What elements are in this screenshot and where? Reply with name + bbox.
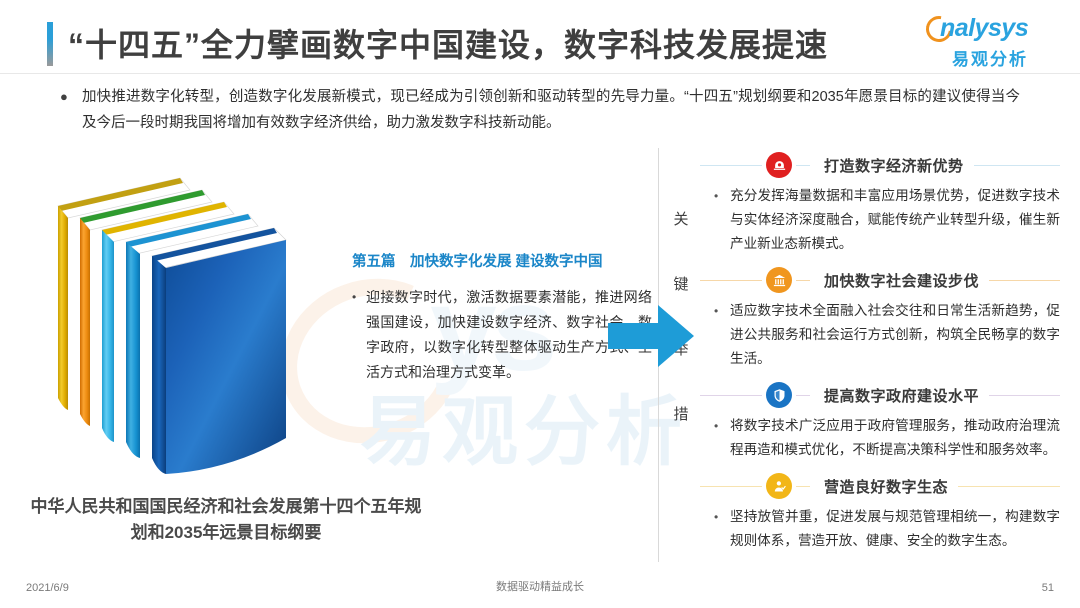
lead-bullet-icon: ●: [60, 84, 82, 136]
divider-mid: [796, 280, 810, 281]
bank-icon: [766, 267, 792, 293]
section-digital-government: 提高数字政府建设水平 • 将数字技术广泛应用于政府管理服务，推动政府治理流程再造…: [700, 380, 1060, 468]
divider-left: [700, 165, 762, 166]
section-bullet-icon: •: [714, 184, 730, 256]
section-body: • 将数字技术广泛应用于政府管理服务，推动政府治理流程再造和模式优化，不断提高决…: [700, 410, 1060, 468]
logo-chinese-name: 易观分析: [952, 45, 1028, 70]
divider-mid: [796, 395, 810, 396]
right-arrow-icon: [608, 305, 694, 367]
footer-tagline: 数据驱动精益成长: [0, 578, 1080, 594]
section-digital-society: 加快数字社会建设步伐 • 适应数字技术全面融入社会交往和日常生活新趋势，促进公共…: [700, 265, 1060, 377]
center-column: 第五篇 加快数字化发展 建设数字中国 • 迎接数字时代，激活数据要素潜能，推进网…: [352, 250, 652, 385]
section-bullet-icon: •: [714, 414, 730, 462]
divider-mid: [796, 165, 810, 166]
section-title: 提高数字政府建设水平: [810, 385, 989, 406]
divider-left: [700, 280, 762, 281]
section-title: 营造良好数字生态: [810, 476, 958, 497]
footer-page-number: 51: [1042, 582, 1054, 594]
section-title: 加快数字社会建设步伐: [810, 270, 989, 291]
divider-mid: [796, 486, 810, 487]
section-bullet-icon: •: [714, 299, 730, 371]
section-text: 将数字技术广泛应用于政府管理服务，推动政府治理流程再造和模式优化，不断提高决策科…: [730, 414, 1060, 462]
title-accent-bar: [47, 22, 53, 66]
center-bullet-icon: •: [352, 285, 366, 385]
helmet-icon: [766, 152, 792, 178]
shield-icon: [766, 382, 792, 408]
side-label-char-3: 措: [668, 407, 694, 422]
divider-left: [700, 395, 762, 396]
watermark-text: 易观分析: [360, 370, 688, 480]
side-label-char-0: 关: [668, 212, 694, 227]
section-text: 充分发挥海量数据和丰富应用场景优势，促进数字技术与实体经济深度融合，赋能传统产业…: [730, 184, 1060, 256]
section-digital-ecology: 营造良好数字生态 • 坚持放管并重，促进发展与规范管理相统一，构建数字规则体系，…: [700, 471, 1060, 559]
section-text: 坚持放管并重，促进发展与规范管理相统一，构建数字规则体系，营造开放、健康、安全的…: [730, 505, 1060, 553]
page-title: “十四五”全力擘画数字中国建设，数字科技发展提速: [68, 20, 828, 66]
logo-wordmark: nalysys: [940, 14, 1028, 43]
section-header: 提高数字政府建设水平: [700, 380, 1060, 410]
books-caption: 中华人民共和国国民经济和社会发展第十四个五年规划和2035年远景目标纲要: [26, 494, 426, 546]
section-body: • 适应数字技术全面融入社会交往和日常生活新趋势，促进公共服务和社会运行方式创新…: [700, 295, 1060, 377]
slide-canvas: ys 易观分析 “十四五”全力擘画数字中国建设，数字科技发展提速 nalysys…: [0, 0, 1080, 608]
section-header: 打造数字经济新优势: [700, 150, 1060, 180]
section-header: 营造良好数字生态: [700, 471, 1060, 501]
lead-paragraph: ● 加快推进数字化转型，创造数字化发展新模式，现已经成为引领创新和驱动转型的先导…: [60, 84, 1020, 136]
section-header: 加快数字社会建设步伐: [700, 265, 1060, 295]
section-body: • 坚持放管并重，促进发展与规范管理相统一，构建数字规则体系，营造开放、健康、安…: [700, 501, 1060, 559]
divider-right: [989, 280, 1060, 281]
section-body: • 充分发挥海量数据和丰富应用场景优势，促进数字技术与实体经济深度融合，赋能传统…: [700, 180, 1060, 262]
section-bullet-icon: •: [714, 505, 730, 553]
person-icon: [766, 473, 792, 499]
divider-right: [958, 486, 1060, 487]
key-measures-panel: 打造数字经济新优势 • 充分发挥海量数据和丰富应用场景优势，促进数字技术与实体经…: [700, 150, 1060, 562]
center-heading: 第五篇 加快数字化发展 建设数字中国: [352, 250, 652, 271]
section-title: 打造数字经济新优势: [810, 155, 974, 176]
divider-right: [974, 165, 1060, 166]
divider-right: [989, 395, 1060, 396]
books-illustration: [40, 170, 340, 500]
analysys-logo: nalysys 易观分析: [924, 14, 1052, 68]
lead-text: 加快推进数字化转型，创造数字化发展新模式，现已经成为引领创新和驱动转型的先导力量…: [82, 84, 1020, 136]
side-label-char-1: 键: [668, 277, 694, 292]
divider-left: [700, 486, 762, 487]
section-text: 适应数字技术全面融入社会交往和日常生活新趋势，促进公共服务和社会运行方式创新，构…: [730, 299, 1060, 371]
header-divider: [0, 73, 1080, 74]
section-digital-economy: 打造数字经济新优势 • 充分发挥海量数据和丰富应用场景优势，促进数字技术与实体经…: [700, 150, 1060, 262]
